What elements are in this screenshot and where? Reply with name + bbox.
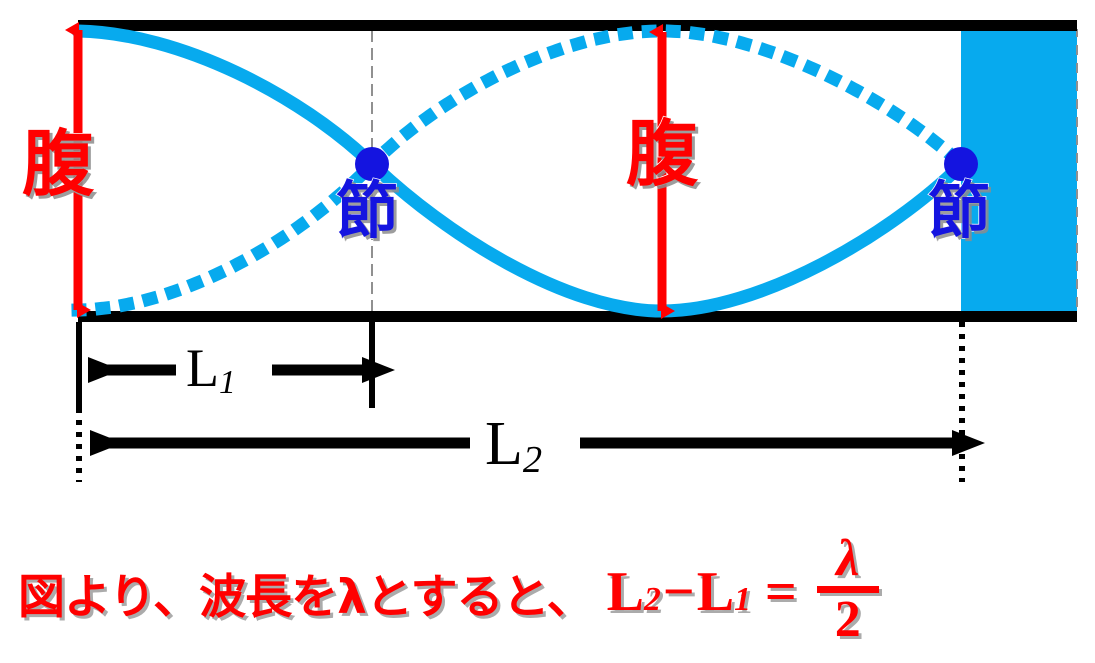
eq-l1-letter: L — [697, 560, 734, 624]
dimension-label-l1: L1 — [186, 341, 236, 395]
l2-letter: L — [485, 410, 523, 478]
eq-l2-letter: L — [607, 560, 644, 624]
l1-subscript: 1 — [219, 364, 236, 401]
eq-fraction: λ 2 — [817, 534, 879, 646]
eq-l1-subscript: 1 — [734, 581, 751, 619]
l1-letter: L — [186, 338, 219, 398]
water-column — [961, 30, 1077, 312]
eq-l2-subscript: 2 — [644, 581, 661, 619]
node-label-1: 節 — [336, 180, 398, 242]
node-label-2: 節 — [928, 180, 990, 242]
equation-math: L2 − L1 = λ 2 — [607, 536, 879, 648]
eq-minus-sign: − — [663, 560, 695, 624]
conclusion-equation: 図より、波長をλとすると、 L2 − L1 = λ 2 — [18, 527, 1078, 657]
diagram-canvas: 腹 腹 節 節 L1 L2 図より、波長をλとすると、 L2 − L1 = λ … — [0, 0, 1095, 663]
equation-lead-text: 図より、波長をλとすると、 — [18, 558, 593, 627]
antinode-label-2: 腹 — [626, 118, 698, 190]
dimension-label-l2: L2 — [485, 413, 542, 475]
antinode-label-1: 腹 — [22, 128, 94, 200]
eq-fraction-numerator: λ — [826, 534, 869, 585]
eq-equals-sign: = — [765, 560, 797, 624]
tube-bottom-wall — [78, 311, 1077, 322]
l2-subscript: 2 — [523, 439, 542, 481]
tube-top-wall — [78, 20, 1077, 31]
eq-fraction-denominator: 2 — [825, 595, 871, 646]
